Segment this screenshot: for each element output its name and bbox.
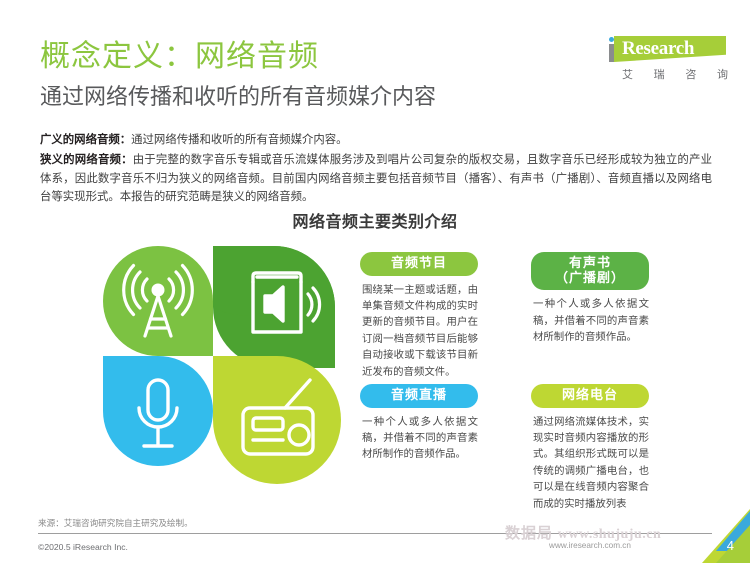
logo-wordmark: Research	[622, 38, 694, 60]
card-text-web-radio: 通过网络流媒体技术，实现实时音频内容播放的形式。其组织形式既可以是传统的调频广播…	[531, 415, 649, 514]
logo-mark: Research	[596, 36, 728, 64]
copyright-note: ©2020.5 iResearch Inc.	[38, 542, 128, 552]
watermark-label: 数据局	[505, 526, 553, 542]
page-title: 概念定义：网络音频	[40, 40, 319, 75]
category-icon-cluster	[103, 246, 341, 484]
logo-chinese-name: 艾 瑞 咨 询	[622, 66, 728, 82]
definition-paragraph-narrow: 狭义的网络音频：由于完整的数字音乐专辑或音乐流媒体服务涉及到唱片公司复杂的版权交…	[40, 151, 712, 206]
watermark: 数据局 www.shujuju.cn	[505, 522, 661, 543]
page-subtitle: 通过网络传播和收听的所有音频媒介内容	[40, 84, 436, 110]
definition-lead-broad: 广义的网络音频：	[40, 134, 131, 146]
definition-lead-narrow: 狭义的网络音频：	[40, 154, 133, 166]
card-title-audiobook-line1: 有声书	[531, 256, 649, 271]
page-number: 4	[727, 538, 734, 553]
watermark-url: www.shujuju.cn	[558, 527, 661, 542]
section-heading: 网络音频主要类别介绍	[0, 208, 750, 232]
card-text-audio-program: 围绕某一主题或话题，由单集音频文件构成的实时更新的音频节目。用户在订阅一档音频节…	[360, 283, 478, 382]
card-text-audiobook: 一种个人或多人依据文稿，并借着不同的声音素材所制作的音频作品。	[531, 297, 649, 346]
card-title-audiobook-line2: （广播剧）	[531, 271, 649, 286]
category-card-audio-program: 音频节目 围绕某一主题或话题，由单集音频文件构成的实时更新的音频节目。用户在订阅…	[360, 252, 478, 381]
definition-text-narrow: 由于完整的数字音乐专辑或音乐流媒体服务涉及到唱片公司复杂的版权交易，且数字音乐已…	[40, 154, 712, 203]
logo-cn-char-1: 艾	[622, 66, 633, 82]
logo-cn-char-3: 咨	[685, 66, 696, 82]
petal-audiobook	[213, 246, 335, 368]
petal-microphone	[103, 356, 213, 466]
petal-broadcast-tower	[103, 246, 213, 356]
logo-i-stem-icon	[609, 44, 614, 62]
microphone-icon	[103, 356, 213, 466]
card-title-web-radio: 网络电台	[531, 384, 649, 408]
card-text-live-audio: 一种个人或多人依据文稿，并借着不同的声音素材所制作的音频作品。	[360, 415, 478, 464]
logo-cn-char-4: 询	[717, 66, 728, 82]
card-title-audio-program: 音频节目	[360, 252, 478, 276]
audiobook-speaker-icon	[213, 246, 335, 368]
definition-text-broad: 通过网络传播和收听的所有音频媒介内容。	[131, 134, 347, 146]
definition-body: 广义的网络音频：通过网络传播和收听的所有音频媒介内容。 狭义的网络音频：由于完整…	[40, 131, 712, 207]
category-card-live-audio: 音频直播 一种个人或多人依据文稿，并借着不同的声音素材所制作的音频作品。	[360, 384, 478, 464]
card-title-live-audio: 音频直播	[360, 384, 478, 408]
iresearch-logo: Research 艾 瑞 咨 询	[592, 36, 732, 88]
card-title-audiobook: 有声书 （广播剧）	[531, 252, 649, 290]
broadcast-tower-icon	[103, 246, 213, 356]
petal-radio	[213, 356, 341, 484]
corner-decoration	[672, 509, 750, 563]
category-card-audiobook: 有声书 （广播剧） 一种个人或多人依据文稿，并借着不同的声音素材所制作的音频作品…	[531, 252, 649, 346]
iresearch-url: www.iresearch.com.cn	[496, 541, 684, 550]
slide-root: 概念定义：网络音频 通过网络传播和收听的所有音频媒介内容 Research 艾 …	[0, 0, 750, 563]
logo-cn-char-2: 瑞	[654, 66, 665, 82]
definition-paragraph-broad: 广义的网络音频：通过网络传播和收听的所有音频媒介内容。	[40, 131, 712, 149]
logo-i-dot-icon	[609, 37, 614, 42]
category-card-web-radio: 网络电台 通过网络流媒体技术，实现实时音频内容播放的形式。其组织形式既可以是传统…	[531, 384, 649, 513]
source-note: 来源：艾瑞咨询研究院自主研究及绘制。	[38, 517, 193, 529]
radio-icon	[213, 356, 341, 484]
